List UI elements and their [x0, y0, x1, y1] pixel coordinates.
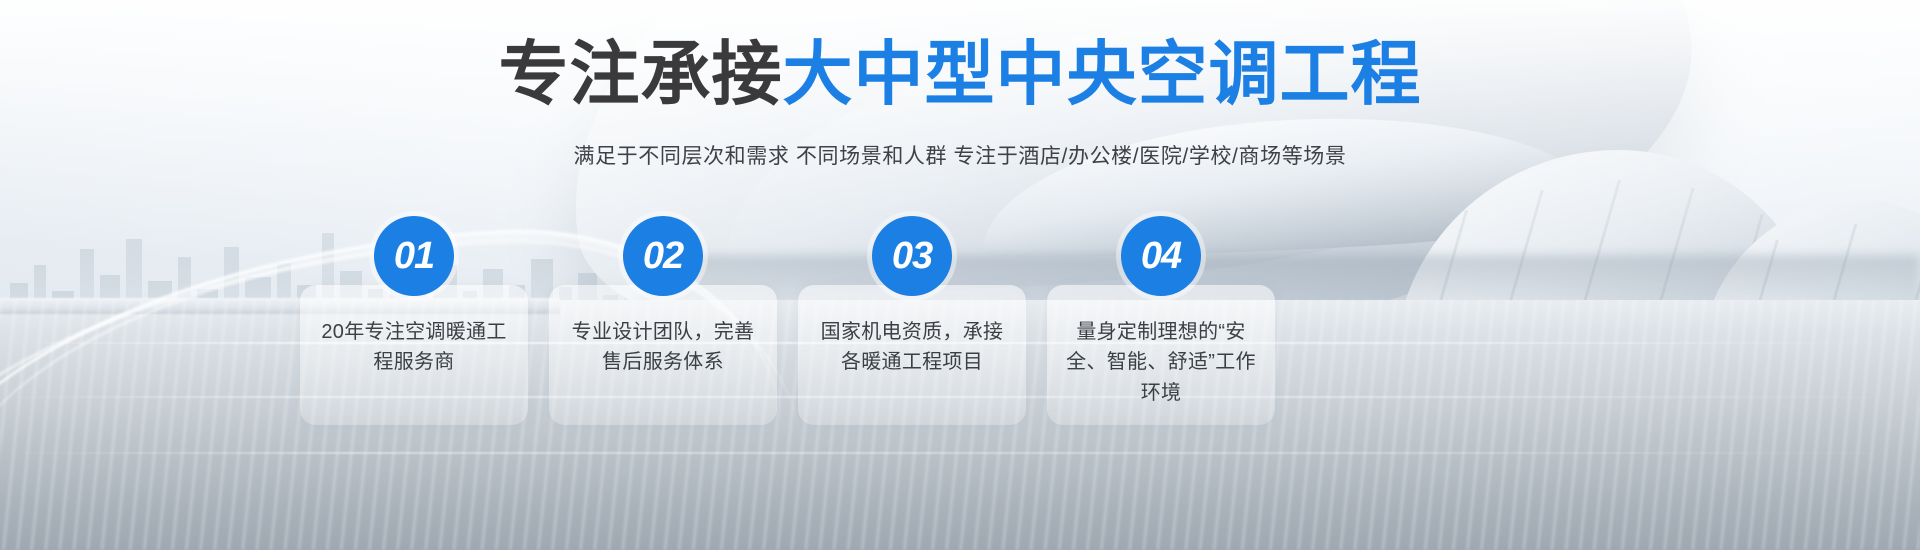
feature-card[interactable]: 03 国家机电资质，承接各暖通工程项目	[798, 285, 1026, 425]
feature-card-text: 专业设计团队，完善售后服务体系	[563, 317, 763, 378]
headline-part-accent: 大中型中央空调工程	[783, 35, 1422, 113]
step-number-badge: 04	[1121, 216, 1201, 296]
feature-card-text: 量身定制理想的“安全、智能、舒适”工作环境	[1061, 317, 1261, 408]
headline-part-dark: 专注承接	[499, 35, 783, 113]
step-number-label: 03	[892, 237, 932, 275]
step-number-badge: 03	[872, 216, 952, 296]
feature-card[interactable]: 02 专业设计团队，完善售后服务体系	[549, 285, 777, 425]
hero-banner: 专注承接大中型中央空调工程 满足于不同层次和需求 不同场景和人群 专注于酒店/办…	[0, 0, 1920, 550]
step-number-badge: 02	[623, 216, 703, 296]
step-number-label: 01	[394, 237, 434, 275]
banner-headline: 专注承接大中型中央空调工程	[0, 38, 1920, 112]
feature-card[interactable]: 04 量身定制理想的“安全、智能、舒适”工作环境	[1047, 285, 1275, 425]
feature-card[interactable]: 01 20年专注空调暖通工程服务商	[300, 285, 528, 425]
feature-card-text: 20年专注空调暖通工程服务商	[314, 317, 514, 378]
banner-subtitle: 满足于不同层次和需求 不同场景和人群 专注于酒店/办公楼/医院/学校/商场等场景	[0, 140, 1920, 170]
feature-card-text: 国家机电资质，承接各暖通工程项目	[812, 317, 1012, 378]
step-number-label: 04	[1141, 237, 1181, 275]
feature-card-list: 01 20年专注空调暖通工程服务商 02 专业设计团队，完善售后服务体系 03 …	[300, 285, 1560, 425]
step-number-label: 02	[643, 237, 683, 275]
step-number-badge: 01	[374, 216, 454, 296]
